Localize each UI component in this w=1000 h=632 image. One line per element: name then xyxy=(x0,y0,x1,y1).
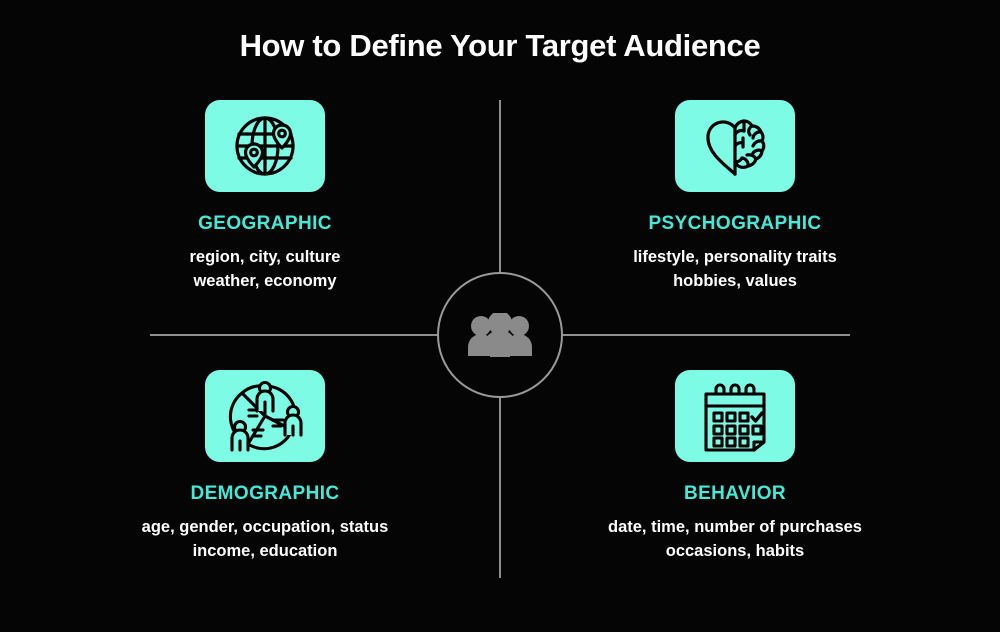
category-lines-demographic: age, gender, occupation, status income, … xyxy=(142,515,389,564)
icon-tile-demographic xyxy=(205,370,325,462)
category-line: weather, economy xyxy=(190,269,341,293)
globe-with-map-pins-icon xyxy=(228,109,302,183)
infographic-canvas: How to Define Your Target Audience xyxy=(0,0,1000,632)
category-line: region, city, culture xyxy=(190,245,341,269)
calendar-check-icon xyxy=(698,380,772,452)
category-title-demographic: DEMOGRAPHIC xyxy=(190,483,339,505)
category-lines-psychographic: lifestyle, personality traits hobbies, v… xyxy=(633,245,837,294)
category-lines-geographic: region, city, culture weather, economy xyxy=(190,245,341,294)
category-line: date, time, number of purchases xyxy=(608,515,862,539)
page-title: How to Define Your Target Audience xyxy=(0,28,1000,64)
category-title-geographic: GEOGRAPHIC xyxy=(198,213,332,235)
group-of-people-icon xyxy=(467,313,533,357)
category-title-behavior: BEHAVIOR xyxy=(684,483,786,505)
icon-tile-psychographic xyxy=(675,100,795,192)
quadrant-behavior: BEHAVIOR date, time, number of purchases… xyxy=(525,370,945,564)
category-title-psychographic: PSYCHOGRAPHIC xyxy=(648,213,821,235)
quadrant-psychographic: PSYCHOGRAPHIC lifestyle, personality tra… xyxy=(525,100,945,294)
category-line: lifestyle, personality traits xyxy=(633,245,837,269)
center-audience-hub xyxy=(437,272,563,398)
pie-chart-people-icon xyxy=(226,378,304,454)
heart-brain-icon xyxy=(699,112,771,180)
icon-tile-geographic xyxy=(205,100,325,192)
icon-tile-behavior xyxy=(675,370,795,462)
category-line: income, education xyxy=(142,539,389,563)
quadrant-demographic: DEMOGRAPHIC age, gender, occupation, sta… xyxy=(55,370,475,564)
category-lines-behavior: date, time, number of purchases occasion… xyxy=(608,515,862,564)
category-line: age, gender, occupation, status xyxy=(142,515,389,539)
quadrant-geographic: GEOGRAPHIC region, city, culture weather… xyxy=(55,100,475,294)
category-line: hobbies, values xyxy=(633,269,837,293)
category-line: occasions, habits xyxy=(608,539,862,563)
